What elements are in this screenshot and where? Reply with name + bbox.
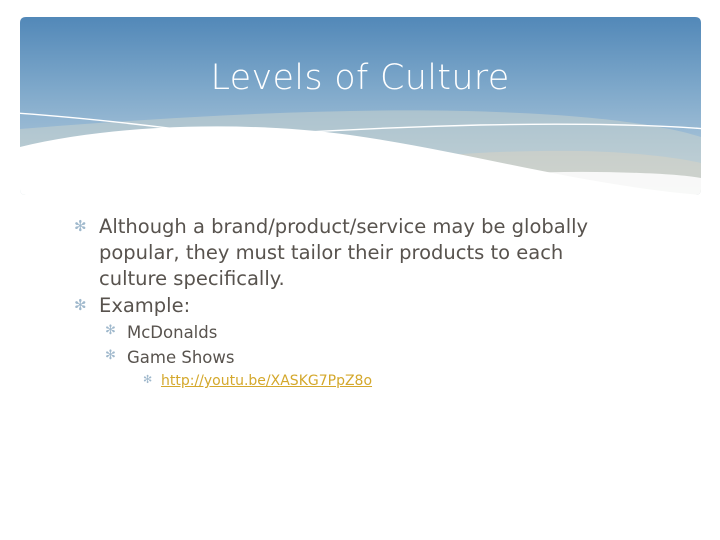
bullet-item-level1: ✻ Example:	[74, 293, 634, 319]
bullet-item-level3: ✻ http://youtu.be/XASKG7PpZ8o	[143, 370, 634, 393]
banner-graphic	[20, 17, 701, 195]
bullet-item-level2: ✻ McDonalds	[105, 320, 634, 345]
youtube-hyperlink[interactable]: http://youtu.be/XASKG7PpZ8o	[161, 373, 372, 389]
slide-title: Levels of Culture	[0, 57, 720, 99]
bullet-text: Example:	[99, 293, 609, 319]
bullet-asterisk-icon: ✻	[105, 320, 127, 337]
bullet-text: McDonalds	[127, 320, 634, 345]
bullet-text: http://youtu.be/XASKG7PpZ8o	[161, 370, 634, 393]
bullet-text: Game Shows	[127, 345, 634, 370]
presentation-slide: Levels of Culture ✻ Although a brand/pro…	[0, 0, 720, 540]
slide-body-content: ✻ Although a brand/product/service may b…	[74, 214, 634, 393]
bullet-item-level1: ✻ Although a brand/product/service may b…	[74, 214, 634, 292]
slide-header-banner	[20, 17, 701, 195]
bullet-asterisk-icon: ✻	[74, 293, 99, 313]
bullet-asterisk-icon: ✻	[143, 370, 161, 385]
bullet-asterisk-icon: ✻	[105, 345, 127, 362]
bullet-text: Although a brand/product/service may be …	[99, 214, 609, 292]
bullet-asterisk-icon: ✻	[74, 214, 99, 234]
bullet-item-level2: ✻ Game Shows	[105, 345, 634, 370]
